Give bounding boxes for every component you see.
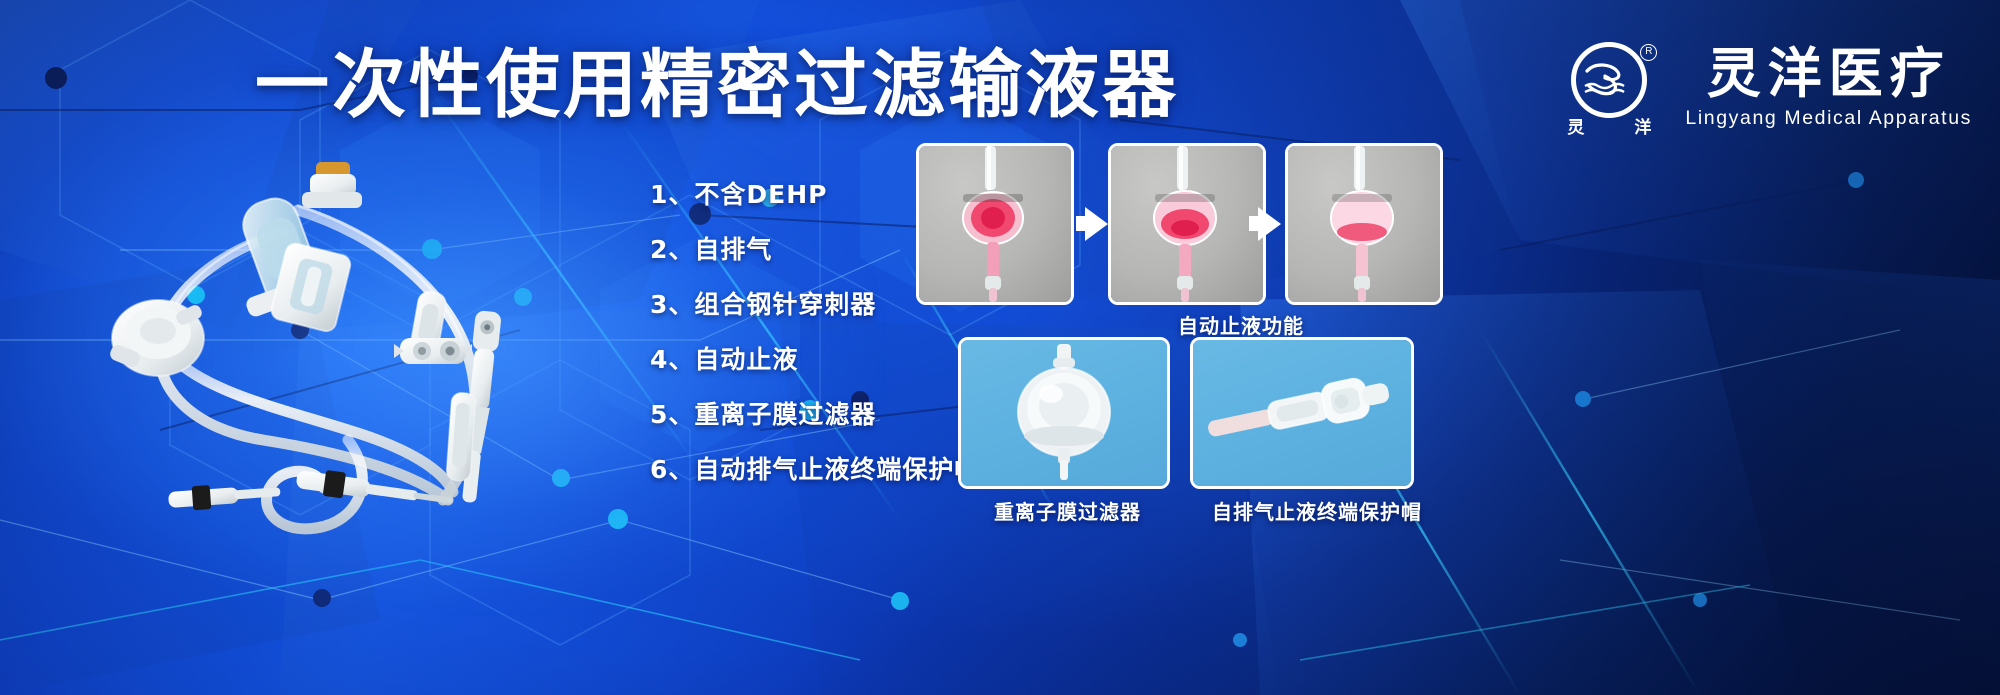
photo-auto-stop-step-3 — [1285, 143, 1443, 305]
photo-terminal-protective-cap — [1190, 337, 1414, 489]
registered-trademark-icon: R — [1640, 44, 1657, 61]
brand-name-cn: 灵洋医疗 — [1707, 46, 1951, 103]
auto-stop-illustration-1 — [919, 146, 1071, 302]
photo-auto-stop-step-2 — [1108, 143, 1266, 305]
protective-cap-illustration — [1193, 340, 1411, 486]
caption-terminal-protective-cap: 自排气止液终端保护帽 — [1212, 496, 1422, 525]
photo-auto-stop-step-1 — [916, 143, 1074, 305]
caption-auto-stop-function: 自动止液功能 — [1178, 310, 1304, 339]
auto-stop-illustration-3 — [1288, 146, 1440, 302]
feature-item-4: 4、自动止液 — [650, 340, 980, 376]
feature-item-5: 5、重离子膜过滤器 — [650, 395, 980, 431]
photo-heavy-ion-membrane-filter — [958, 337, 1170, 489]
arrow-stem-2 — [1249, 216, 1265, 231]
brand-name-en: Lingyang Medical Apparatus — [1685, 107, 1972, 130]
brand-text-block: 灵洋医疗 Lingyang Medical Apparatus — [1685, 46, 1972, 130]
logo-wave-icon — [1583, 62, 1635, 96]
feature-item-6: 6、自动排气止液终端保护帽 — [650, 450, 980, 486]
filter-illustration — [961, 340, 1167, 486]
product-banner: 一次性使用精密过滤输液器 R 灵 洋 灵洋医疗 Lingyang Medical… — [0, 0, 2000, 695]
caption-heavy-ion-membrane-filter: 重离子膜过滤器 — [994, 496, 1141, 525]
auto-stop-illustration-2 — [1111, 146, 1263, 302]
arrow-stem-1 — [1076, 216, 1092, 231]
page-title: 一次性使用精密过滤输液器 — [255, 48, 1179, 122]
logo-mark-char-right: 洋 — [1634, 113, 1651, 138]
brand-logo: R 灵 洋 灵洋医疗 Lingyang Medical Apparatus — [1567, 40, 1972, 136]
logo-mark-characters: 灵 洋 — [1567, 113, 1651, 138]
product-photo-infusion-set — [48, 140, 668, 540]
logo-mark-char-left: 灵 — [1567, 113, 1584, 138]
logo-mark-icon: R 灵 洋 — [1567, 40, 1663, 136]
